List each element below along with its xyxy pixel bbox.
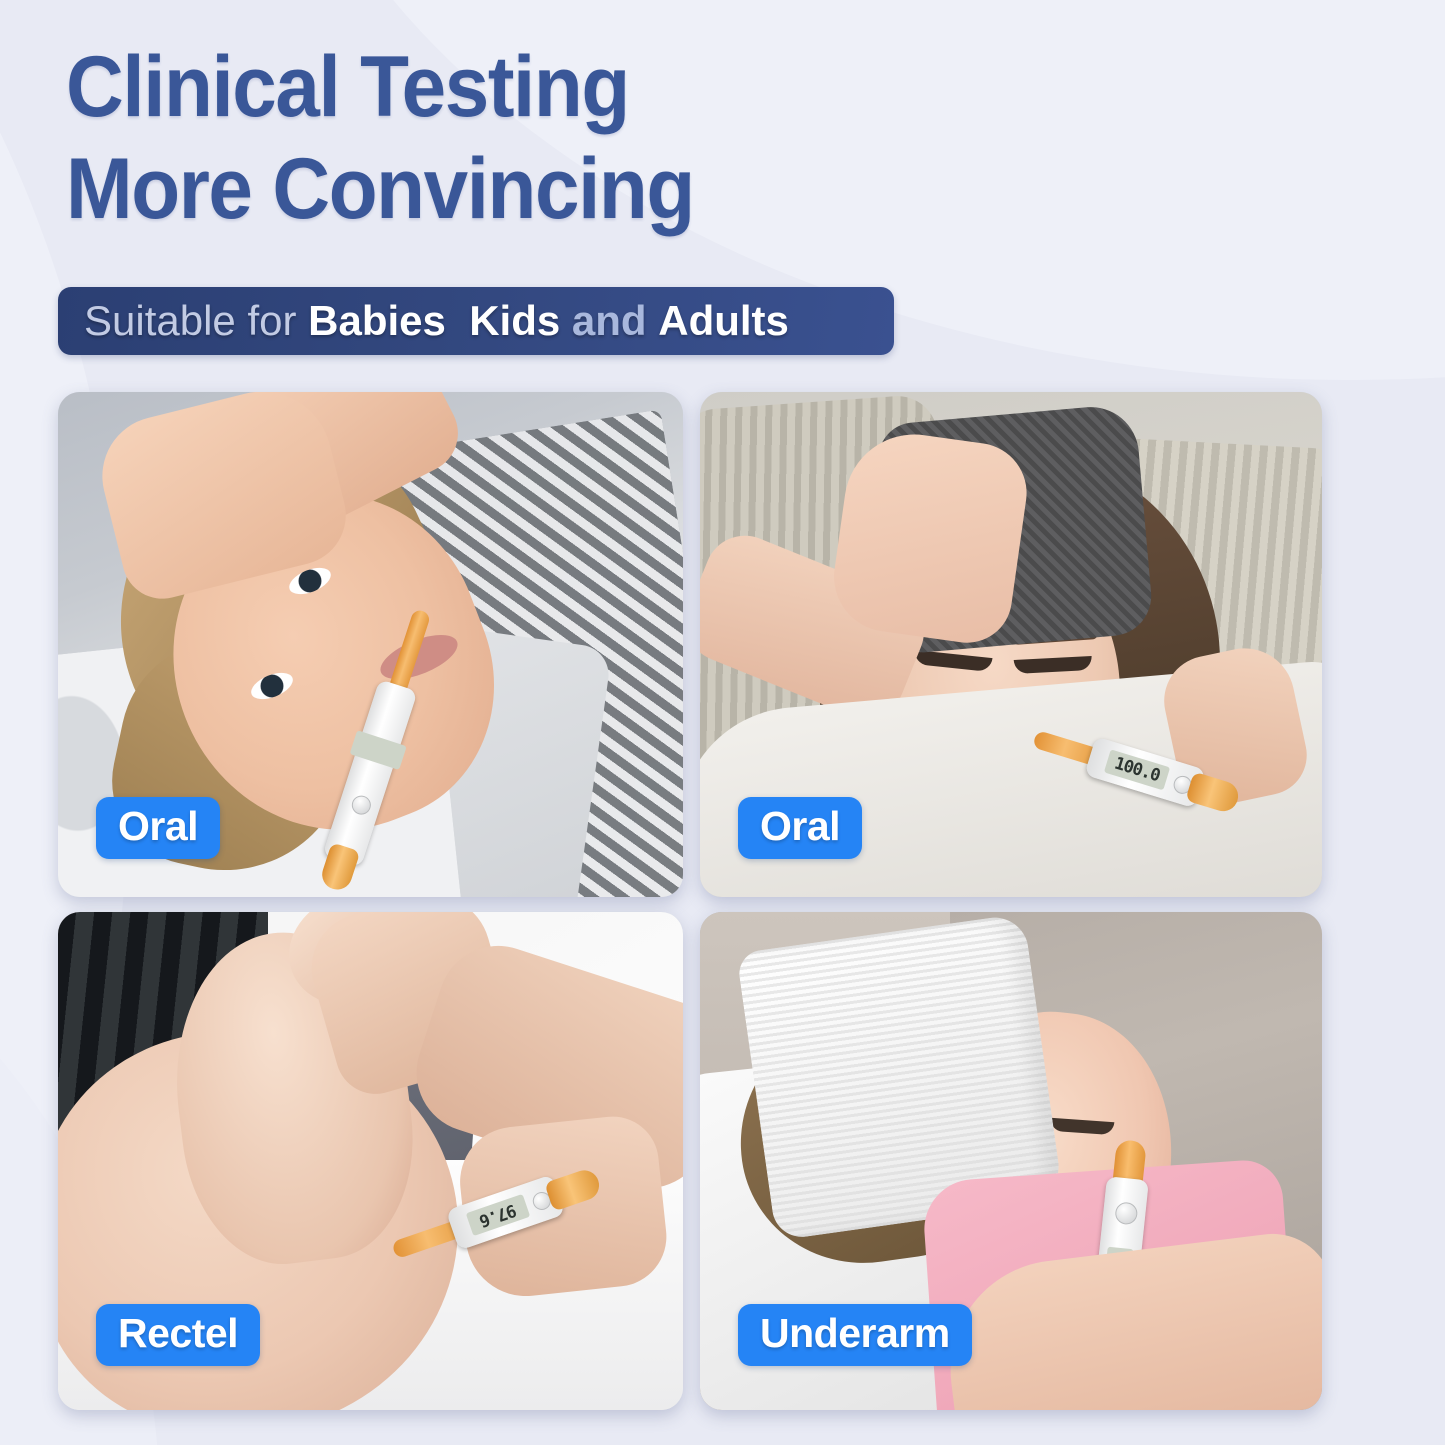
headline-line-1: Clinical Testing (66, 39, 629, 135)
panel-rectal-baby: 97.6 Rectel (58, 912, 683, 1410)
headline-line-2: More Convincing (66, 146, 903, 234)
banner-conjunction: and (560, 300, 658, 342)
badge-oral-child: Oral (96, 797, 220, 859)
usage-photo-grid: Oral 100.0 (58, 392, 1322, 1410)
badge-oral-adult: Oral (738, 797, 862, 859)
banner-prefix: Suitable for (84, 300, 308, 342)
badge-underarm-child: Underarm (738, 1304, 972, 1366)
badge-rectal-baby: Rectel (96, 1304, 260, 1366)
banner-separator (446, 300, 469, 342)
panel-underarm-child: 98.3 Underarm (700, 912, 1322, 1410)
page-title: Clinical Testing More Convincing (66, 44, 903, 233)
panel-oral-child: Oral (58, 392, 683, 897)
banner-audience-kids: Kids (469, 300, 560, 342)
panel-oral-adult: 100.0 Oral (700, 392, 1322, 897)
thermometer-cap (1185, 772, 1242, 815)
promo-image: Clinical Testing More Convincing Suitabl… (0, 0, 1445, 1445)
banner-audience-babies: Babies (308, 300, 446, 342)
suitability-banner: Suitable for Babies Kids and Adults (58, 287, 894, 355)
banner-audience-adults: Adults (658, 300, 789, 342)
